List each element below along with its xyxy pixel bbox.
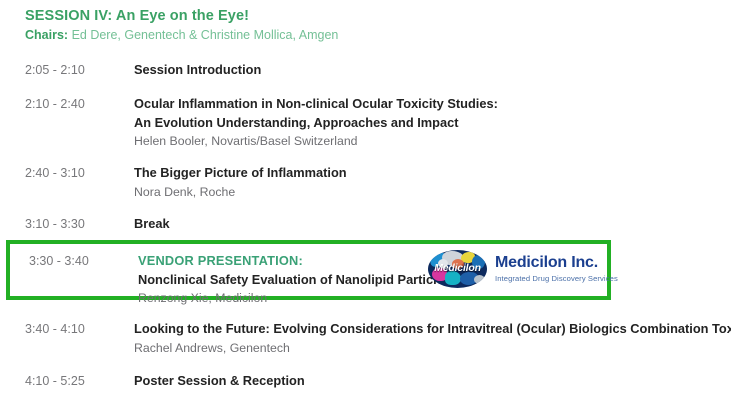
agenda-row-time: 2:05 - 2:10 <box>25 61 134 79</box>
globe-wordmark: Medicilon <box>428 262 487 274</box>
chairs-names: Ed Dere, Genentech & Christine Mollica, … <box>72 28 339 42</box>
agenda-row-time: 3:10 - 3:30 <box>25 215 134 233</box>
agenda-row-speaker: Rachel Andrews, Genentech <box>134 339 731 357</box>
agenda-row-title: Session Introduction <box>134 61 731 80</box>
logo-text-block: Medicilon Inc. Integrated Drug Discovery… <box>495 254 618 284</box>
agenda-row-time: 3:40 - 4:10 <box>25 320 134 338</box>
chairs-label: Chairs: <box>25 28 68 42</box>
session-header: SESSION IV: An Eye on the Eye! Chairs: E… <box>25 8 705 43</box>
agenda-row-title: Looking to the Future: Evolving Consider… <box>134 320 731 339</box>
agenda-row-title: Ocular Inflammation in Non-clinical Ocul… <box>134 95 731 114</box>
agenda-row-body: Break <box>134 215 731 234</box>
agenda-row: 2:05 - 2:10 Session Introduction <box>0 61 731 80</box>
vendor-row-time: 3:30 - 3:40 <box>29 252 138 270</box>
agenda-row: 3:40 - 4:10 Looking to the Future: Evolv… <box>0 320 731 357</box>
agenda-row-speaker: Helen Booler, Novartis/Basel Switzerland <box>134 132 731 150</box>
session-chairs: Chairs: Ed Dere, Genentech & Christine M… <box>25 27 705 43</box>
globe-icon: Medicilon <box>428 250 487 288</box>
agenda-row: 2:40 - 3:10 The Bigger Picture of Inflam… <box>0 164 731 201</box>
agenda-row-body: Looking to the Future: Evolving Consider… <box>134 320 731 357</box>
medicilon-logo: Medicilon Medicilon Inc. Integrated Drug… <box>428 249 604 289</box>
agenda-row-title-line2: An Evolution Understanding, Approaches a… <box>134 114 731 133</box>
agenda-row-time: 2:40 - 3:10 <box>25 164 134 182</box>
agenda-row-title: Break <box>134 215 731 234</box>
logo-company-name: Medicilon Inc. <box>495 254 618 272</box>
agenda-row: 4:10 - 5:25 Poster Session & Reception <box>0 372 731 391</box>
agenda-row-body: Ocular Inflammation in Non-clinical Ocul… <box>134 95 731 150</box>
vendor-row-body: VENDOR PRESENTATION: Nonclinical Safety … <box>138 252 451 307</box>
agenda-row: 3:10 - 3:30 Break <box>0 215 731 234</box>
agenda-row-body: Session Introduction <box>134 61 731 80</box>
vendor-title: Nonclinical Safety Evaluation of Nanolip… <box>138 271 451 290</box>
agenda-row-title: The Bigger Picture of Inflammation <box>134 164 731 183</box>
logo-tagline: Integrated Drug Discovery Services <box>495 274 618 284</box>
agenda-row-title: Poster Session & Reception <box>134 372 731 391</box>
agenda-row-time: 2:10 - 2:40 <box>25 95 134 113</box>
session-agenda-page: SESSION IV: An Eye on the Eye! Chairs: E… <box>0 0 731 400</box>
globe-patch <box>474 275 485 284</box>
page-title: SESSION IV: An Eye on the Eye! <box>25 8 705 25</box>
vendor-heading: VENDOR PRESENTATION: <box>138 252 451 271</box>
vendor-row: 3:30 - 3:40 VENDOR PRESENTATION: Nonclin… <box>29 252 451 307</box>
agenda-row-body: The Bigger Picture of Inflammation Nora … <box>134 164 731 201</box>
agenda-row-speaker: Nora Denk, Roche <box>134 183 731 201</box>
vendor-speaker: Renzong Xie, Medicilon <box>138 289 451 307</box>
agenda-row-time: 4:10 - 5:25 <box>25 372 134 390</box>
agenda-row: 2:10 - 2:40 Ocular Inflammation in Non-c… <box>0 95 731 150</box>
agenda-row-body: Poster Session & Reception <box>134 372 731 391</box>
